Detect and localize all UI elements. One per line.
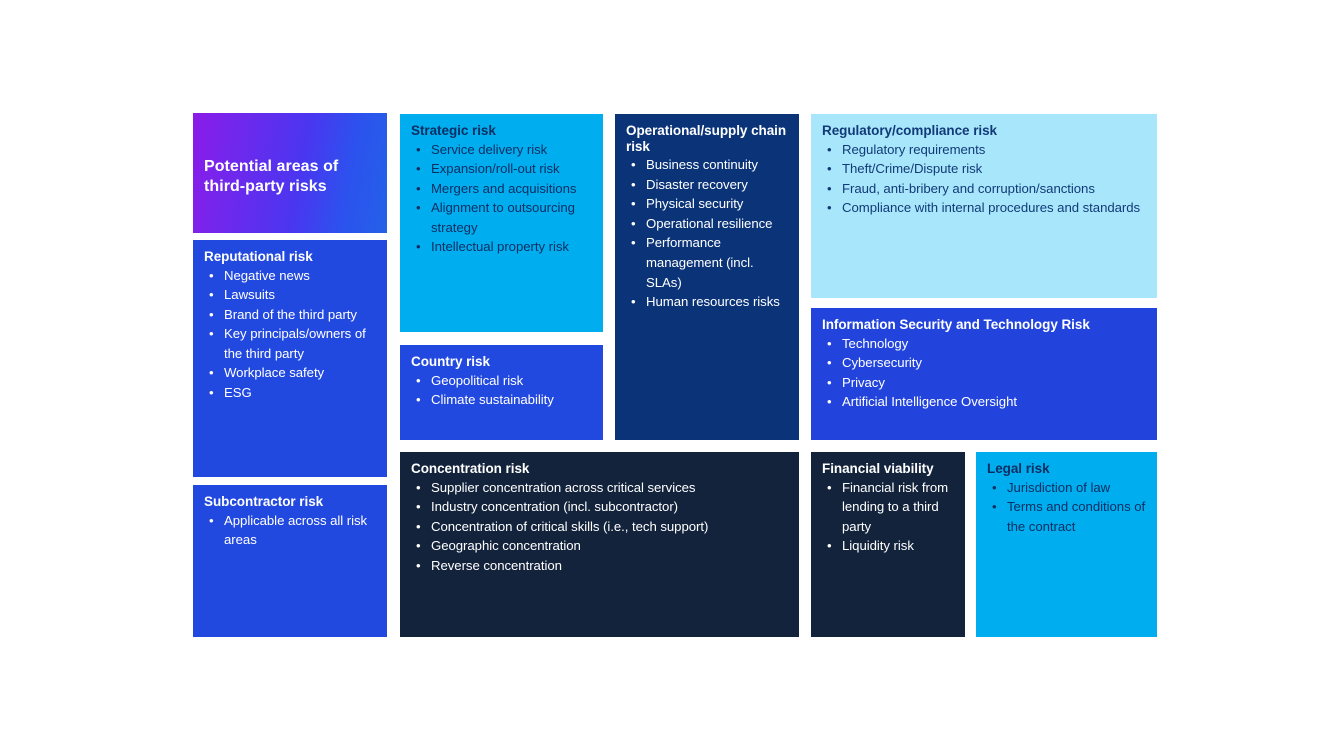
card-strategic-risk: Strategic risk •Service delivery risk•Ex…	[400, 114, 603, 332]
bullet-dot-icon: •	[416, 517, 421, 537]
bullet-text: Brand of the third party	[224, 307, 357, 322]
bullet-text: Artificial Intelligence Oversight	[842, 394, 1017, 409]
bullet-text: Fraud, anti-bribery and corruption/sanct…	[842, 181, 1095, 196]
bullet-dot-icon: •	[992, 478, 997, 498]
bullet-list: •Applicable across all risk areas	[204, 511, 376, 550]
bullet-text: Reverse concentration	[431, 558, 562, 573]
bullet-dot-icon: •	[416, 198, 421, 218]
card-title: Legal risk	[987, 461, 1146, 477]
card-title: Country risk	[411, 354, 592, 370]
bullet-text: Key principals/owners of the third party	[224, 326, 366, 361]
bullet-text: Operational resilience	[646, 216, 772, 231]
card-title: Information Security and Technology Risk	[822, 317, 1146, 333]
bullet-item: •Alignment to outsourcing strategy	[411, 198, 592, 237]
bullet-dot-icon: •	[631, 155, 636, 175]
bullet-dot-icon: •	[631, 292, 636, 312]
bullet-item: •Disaster recovery	[626, 175, 788, 195]
bullet-item: •Liquidity risk	[822, 536, 954, 556]
bullet-item: •Negative news	[204, 266, 376, 286]
bullet-dot-icon: •	[631, 214, 636, 234]
bullet-text: Mergers and acquisitions	[431, 181, 576, 196]
bullet-dot-icon: •	[992, 497, 997, 517]
bullet-dot-icon: •	[827, 392, 832, 412]
bullet-dot-icon: •	[631, 233, 636, 253]
bullet-dot-icon: •	[209, 285, 214, 305]
bullet-text: Climate sustainability	[431, 392, 554, 407]
bullet-list: •Business continuity•Disaster recovery•P…	[626, 155, 788, 312]
bullet-list: •Negative news•Lawsuits•Brand of the thi…	[204, 266, 376, 403]
card-legal-risk: Legal risk •Jurisdiction of law•Terms an…	[976, 452, 1157, 637]
bullet-dot-icon: •	[827, 353, 832, 373]
bullet-item: •Key principals/owners of the third part…	[204, 324, 376, 363]
card-operational-supply-chain-risk: Operational/supply chain risk •Business …	[615, 114, 799, 440]
bullet-dot-icon: •	[631, 194, 636, 214]
card-title: Concentration risk	[411, 461, 788, 477]
bullet-dot-icon: •	[416, 140, 421, 160]
card-reputational-risk: Reputational risk •Negative news•Lawsuit…	[193, 240, 387, 477]
bullet-text: Physical security	[646, 196, 743, 211]
bullet-item: •Intellectual property risk	[411, 237, 592, 257]
bullet-item: •Brand of the third party	[204, 305, 376, 325]
bullet-item: •Privacy	[822, 373, 1146, 393]
bullet-text: Alignment to outsourcing strategy	[431, 200, 575, 235]
bullet-text: Expansion/roll-out risk	[431, 161, 560, 176]
bullet-text: Theft/Crime/Dispute risk	[842, 161, 982, 176]
bullet-dot-icon: •	[416, 371, 421, 391]
bullet-item: •Supplier concentration across critical …	[411, 478, 788, 498]
bullet-text: Geographic concentration	[431, 538, 581, 553]
bullet-dot-icon: •	[416, 179, 421, 199]
bullet-dot-icon: •	[209, 324, 214, 344]
bullet-text: Compliance with internal procedures and …	[842, 200, 1140, 215]
bullet-item: •Climate sustainability	[411, 390, 592, 410]
bullet-item: •Human resources risks	[626, 292, 788, 312]
bullet-item: •Concentration of critical skills (i.e.,…	[411, 517, 788, 537]
bullet-dot-icon: •	[827, 159, 832, 179]
bullet-text: Supplier concentration across critical s…	[431, 480, 695, 495]
card-information-security-technology-risk: Information Security and Technology Risk…	[811, 308, 1157, 440]
card-country-risk: Country risk •Geopolitical risk•Climate …	[400, 345, 603, 440]
bullet-text: Disaster recovery	[646, 177, 748, 192]
bullet-list: •Regulatory requirements•Theft/Crime/Dis…	[822, 140, 1146, 218]
card-concentration-risk: Concentration risk •Supplier concentrati…	[400, 452, 799, 637]
bullet-text: Privacy	[842, 375, 885, 390]
bullet-item: •Technology	[822, 334, 1146, 354]
bullet-dot-icon: •	[416, 390, 421, 410]
bullet-dot-icon: •	[416, 536, 421, 556]
bullet-item: •Service delivery risk	[411, 140, 592, 160]
bullet-text: Performance management (incl. SLAs)	[646, 235, 754, 289]
page-title: Potential areas of third-party risks	[204, 157, 375, 197]
bullet-list: •Jurisdiction of law•Terms and condition…	[987, 478, 1146, 537]
bullet-text: ESG	[224, 385, 252, 400]
bullet-text: Financial risk from lending to a third p…	[842, 480, 948, 534]
bullet-dot-icon: •	[827, 478, 832, 498]
card-title: Reputational risk	[204, 249, 376, 265]
bullet-text: Cybersecurity	[842, 355, 922, 370]
hero-title-card: Potential areas of third-party risks	[193, 113, 387, 233]
card-title: Operational/supply chain risk	[626, 123, 788, 154]
bullet-dot-icon: •	[827, 334, 832, 354]
bullet-text: Business continuity	[646, 157, 758, 172]
bullet-text: Geopolitical risk	[431, 373, 523, 388]
bullet-dot-icon: •	[827, 373, 832, 393]
bullet-dot-icon: •	[827, 198, 832, 218]
bullet-item: •Lawsuits	[204, 285, 376, 305]
card-financial-viability: Financial viability •Financial risk from…	[811, 452, 965, 637]
bullet-item: •Applicable across all risk areas	[204, 511, 376, 550]
bullet-dot-icon: •	[827, 536, 832, 556]
bullet-item: •Operational resilience	[626, 214, 788, 234]
bullet-list: •Service delivery risk•Expansion/roll-ou…	[411, 140, 592, 258]
bullet-dot-icon: •	[827, 179, 832, 199]
bullet-list: •Supplier concentration across critical …	[411, 478, 788, 576]
bullet-item: •Physical security	[626, 194, 788, 214]
bullet-dot-icon: •	[209, 511, 214, 531]
bullet-dot-icon: •	[416, 497, 421, 517]
bullet-text: Applicable across all risk areas	[224, 513, 367, 548]
bullet-dot-icon: •	[209, 363, 214, 383]
bullet-text: Industry concentration (incl. subcontrac…	[431, 499, 678, 514]
bullet-dot-icon: •	[827, 140, 832, 160]
bullet-text: Jurisdiction of law	[1007, 480, 1110, 495]
bullet-text: Intellectual property risk	[431, 239, 569, 254]
bullet-text: Liquidity risk	[842, 538, 914, 553]
bullet-item: •Cybersecurity	[822, 353, 1146, 373]
bullet-dot-icon: •	[631, 175, 636, 195]
bullet-dot-icon: •	[416, 159, 421, 179]
bullet-item: •Terms and conditions of the contract	[987, 497, 1146, 536]
card-title: Strategic risk	[411, 123, 592, 139]
bullet-text: Concentration of critical skills (i.e., …	[431, 519, 708, 534]
bullet-item: •Financial risk from lending to a third …	[822, 478, 954, 537]
bullet-dot-icon: •	[209, 383, 214, 403]
bullet-list: •Technology•Cybersecurity•Privacy•Artifi…	[822, 334, 1146, 412]
bullet-text: Lawsuits	[224, 287, 275, 302]
bullet-text: Human resources risks	[646, 294, 780, 309]
bullet-text: Regulatory requirements	[842, 142, 985, 157]
card-title: Regulatory/compliance risk	[822, 123, 1146, 139]
bullet-list: •Geopolitical risk•Climate sustainabilit…	[411, 371, 592, 410]
third-party-risk-diagram: Potential areas of third-party risks Rep…	[0, 0, 1335, 750]
bullet-dot-icon: •	[416, 478, 421, 498]
card-subcontractor-risk: Subcontractor risk •Applicable across al…	[193, 485, 387, 637]
bullet-item: •Workplace safety	[204, 363, 376, 383]
card-title: Subcontractor risk	[204, 494, 376, 510]
bullet-list: •Financial risk from lending to a third …	[822, 478, 954, 556]
bullet-item: •Artificial Intelligence Oversight	[822, 392, 1146, 412]
bullet-dot-icon: •	[416, 237, 421, 257]
bullet-item: •Fraud, anti-bribery and corruption/sanc…	[822, 179, 1146, 199]
card-title: Financial viability	[822, 461, 954, 477]
bullet-item: •Industry concentration (incl. subcontra…	[411, 497, 788, 517]
bullet-item: •Mergers and acquisitions	[411, 179, 592, 199]
bullet-item: •Jurisdiction of law	[987, 478, 1146, 498]
bullet-item: •Regulatory requirements	[822, 140, 1146, 160]
bullet-item: •Expansion/roll-out risk	[411, 159, 592, 179]
bullet-item: •Business continuity	[626, 155, 788, 175]
bullet-text: Service delivery risk	[431, 142, 547, 157]
bullet-dot-icon: •	[209, 305, 214, 325]
bullet-dot-icon: •	[416, 556, 421, 576]
bullet-item: •ESG	[204, 383, 376, 403]
bullet-dot-icon: •	[209, 266, 214, 286]
bullet-item: •Theft/Crime/Dispute risk	[822, 159, 1146, 179]
bullet-item: •Geopolitical risk	[411, 371, 592, 391]
bullet-item: •Geographic concentration	[411, 536, 788, 556]
bullet-text: Technology	[842, 336, 908, 351]
card-regulatory-compliance-risk: Regulatory/compliance risk •Regulatory r…	[811, 114, 1157, 298]
bullet-text: Terms and conditions of the contract	[1007, 499, 1145, 534]
bullet-item: •Reverse concentration	[411, 556, 788, 576]
bullet-item: •Performance management (incl. SLAs)	[626, 233, 788, 292]
bullet-item: •Compliance with internal procedures and…	[822, 198, 1146, 218]
bullet-text: Negative news	[224, 268, 310, 283]
bullet-text: Workplace safety	[224, 365, 324, 380]
